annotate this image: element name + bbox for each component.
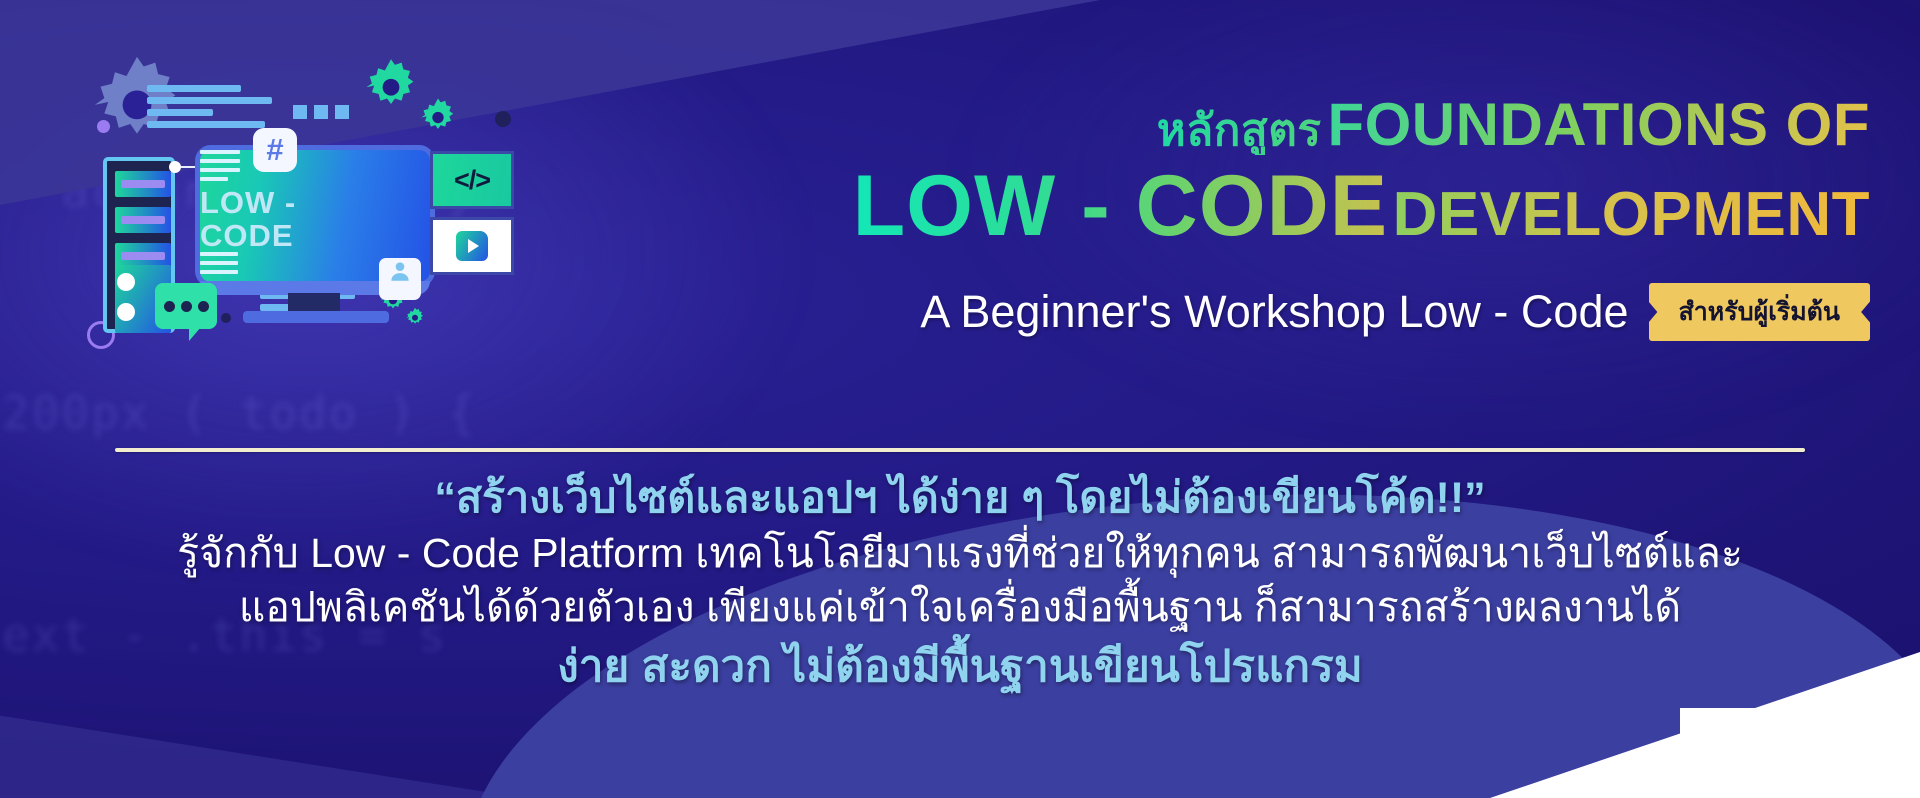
code-symbol: </> <box>433 154 511 206</box>
text-bars-icon <box>147 85 272 133</box>
thai-prefix: หลักสูตร <box>1157 106 1328 155</box>
body-copy: “สร้างเว็บไซต์และแอปฯ ได้ง่าย ๆ โดยไม่ต้… <box>0 470 1920 698</box>
video-window-icon <box>430 217 514 275</box>
title-main: LOW - CODE <box>853 158 1389 254</box>
dot-decoration <box>495 111 511 127</box>
paragraph-line-2: แอปพลิเคชันได้ด้วยตัวเอง เพียงแค่เข้าใจเ… <box>0 580 1920 634</box>
monitor-foot <box>243 311 389 323</box>
gear-icon <box>419 97 457 135</box>
code-line: 200px ( todo ) { <box>2 376 1920 450</box>
paragraph-line-1: รู้จักกับ Low - Code Platform เทคโนโลยีม… <box>0 526 1920 580</box>
hash-card-icon: # <box>253 128 297 172</box>
dot-decoration <box>221 313 231 323</box>
gear-icon <box>405 307 425 327</box>
subtitle: A Beginner's Workshop Low - Code <box>920 286 1628 338</box>
gear-icon <box>363 57 419 113</box>
monitor-stand <box>288 293 340 313</box>
call-to-action-text: ง่าย สะดวก ไม่ต้องมีพื้นฐานเขียนโปรแกรม <box>0 636 1920 698</box>
monitor-lines-icon <box>200 252 240 274</box>
headline-quote: “สร้างเว็บไซต์และแอปฯ ได้ง่าย ๆ โดยไม่ต้… <box>0 470 1920 526</box>
headline-line-1: หลักสูตรFOUNDATIONS OF <box>640 92 1870 164</box>
chat-bubble-icon <box>155 283 217 329</box>
title-suffix: DEVELOPMENT <box>1393 180 1870 249</box>
squares-icon <box>293 105 349 119</box>
monitor-label-line2: CODE <box>200 219 380 252</box>
title-top: FOUNDATIONS OF <box>1327 91 1870 158</box>
headline-block: หลักสูตรFOUNDATIONS OF LOW - CODE DEVELO… <box>640 92 1870 341</box>
monitor-lines-icon <box>200 150 242 181</box>
monitor-label: LOW - CODE <box>200 186 380 252</box>
bottom-right-white-block <box>1680 708 1920 798</box>
code-window-icon: </> <box>430 151 514 209</box>
course-promo-banner: ackground copy 200px ( todo ) { ext - .t… <box>0 0 1920 798</box>
play-button-icon <box>456 231 488 261</box>
headline-line-3: A Beginner's Workshop Low - Code สำหรับผ… <box>640 283 1870 341</box>
beginner-badge: สำหรับผู้เริ่มต้น <box>1649 283 1871 341</box>
user-card-icon <box>379 258 421 300</box>
headline-line-2: LOW - CODE DEVELOPMENT <box>640 160 1870 277</box>
monitor-label-line1: LOW - <box>200 186 380 219</box>
dot-decoration <box>97 120 110 133</box>
low-code-illustration: LOW - CODE # </> <box>75 45 595 355</box>
divider <box>115 448 1805 452</box>
user-icon <box>387 258 413 284</box>
